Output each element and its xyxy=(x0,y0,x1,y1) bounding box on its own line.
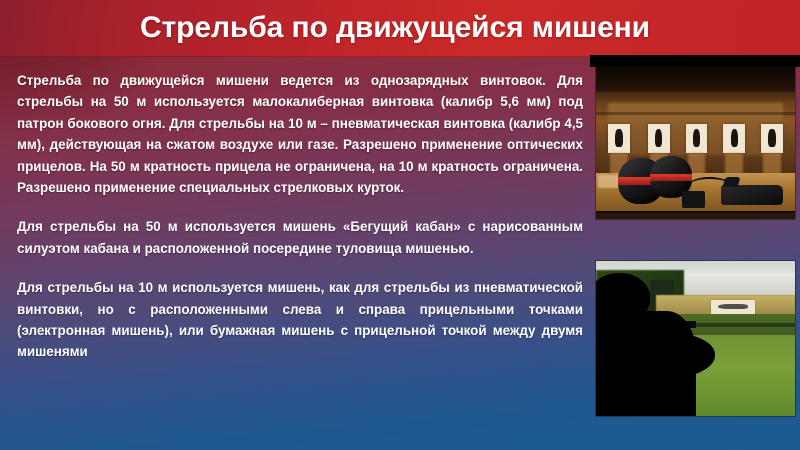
range-beam xyxy=(596,87,795,92)
bench-edge xyxy=(596,211,795,213)
paper-target xyxy=(648,124,670,153)
page-title: Стрельба по движущейся мишени xyxy=(0,3,790,53)
presentation-slide: Стрельба по движущейся мишени Стрельба п… xyxy=(0,0,800,450)
pistol xyxy=(721,185,783,205)
ear-defender-red-band xyxy=(650,174,692,181)
indoor-shooting-range-photo xyxy=(596,66,795,219)
outdoor-range-scene xyxy=(596,261,795,416)
paragraph-1: Стрельба по движущейся мишени ведется из… xyxy=(17,70,583,198)
paper-target xyxy=(723,124,745,153)
shooter-silhouette xyxy=(596,270,727,416)
range-beam xyxy=(596,112,795,115)
paper-target xyxy=(761,124,783,153)
outdoor-running-boar-photo xyxy=(596,261,795,416)
slide-body-text: Стрельба по движущейся мишени ведется из… xyxy=(17,70,583,363)
paper-target xyxy=(686,124,708,153)
diagonal-stripe-decoration xyxy=(700,216,800,264)
slide-header-band: Стрельба по движущейся мишени xyxy=(0,0,800,57)
magazine xyxy=(682,191,706,208)
shooter-body xyxy=(596,311,696,416)
paper-target xyxy=(608,124,630,153)
paragraph-2: Для стрельбы на 50 м используется мишень… xyxy=(17,216,583,259)
paragraph-3: Для стрельбы на 10 м используется мишень… xyxy=(17,277,583,363)
indoor-range-scene xyxy=(596,66,795,219)
